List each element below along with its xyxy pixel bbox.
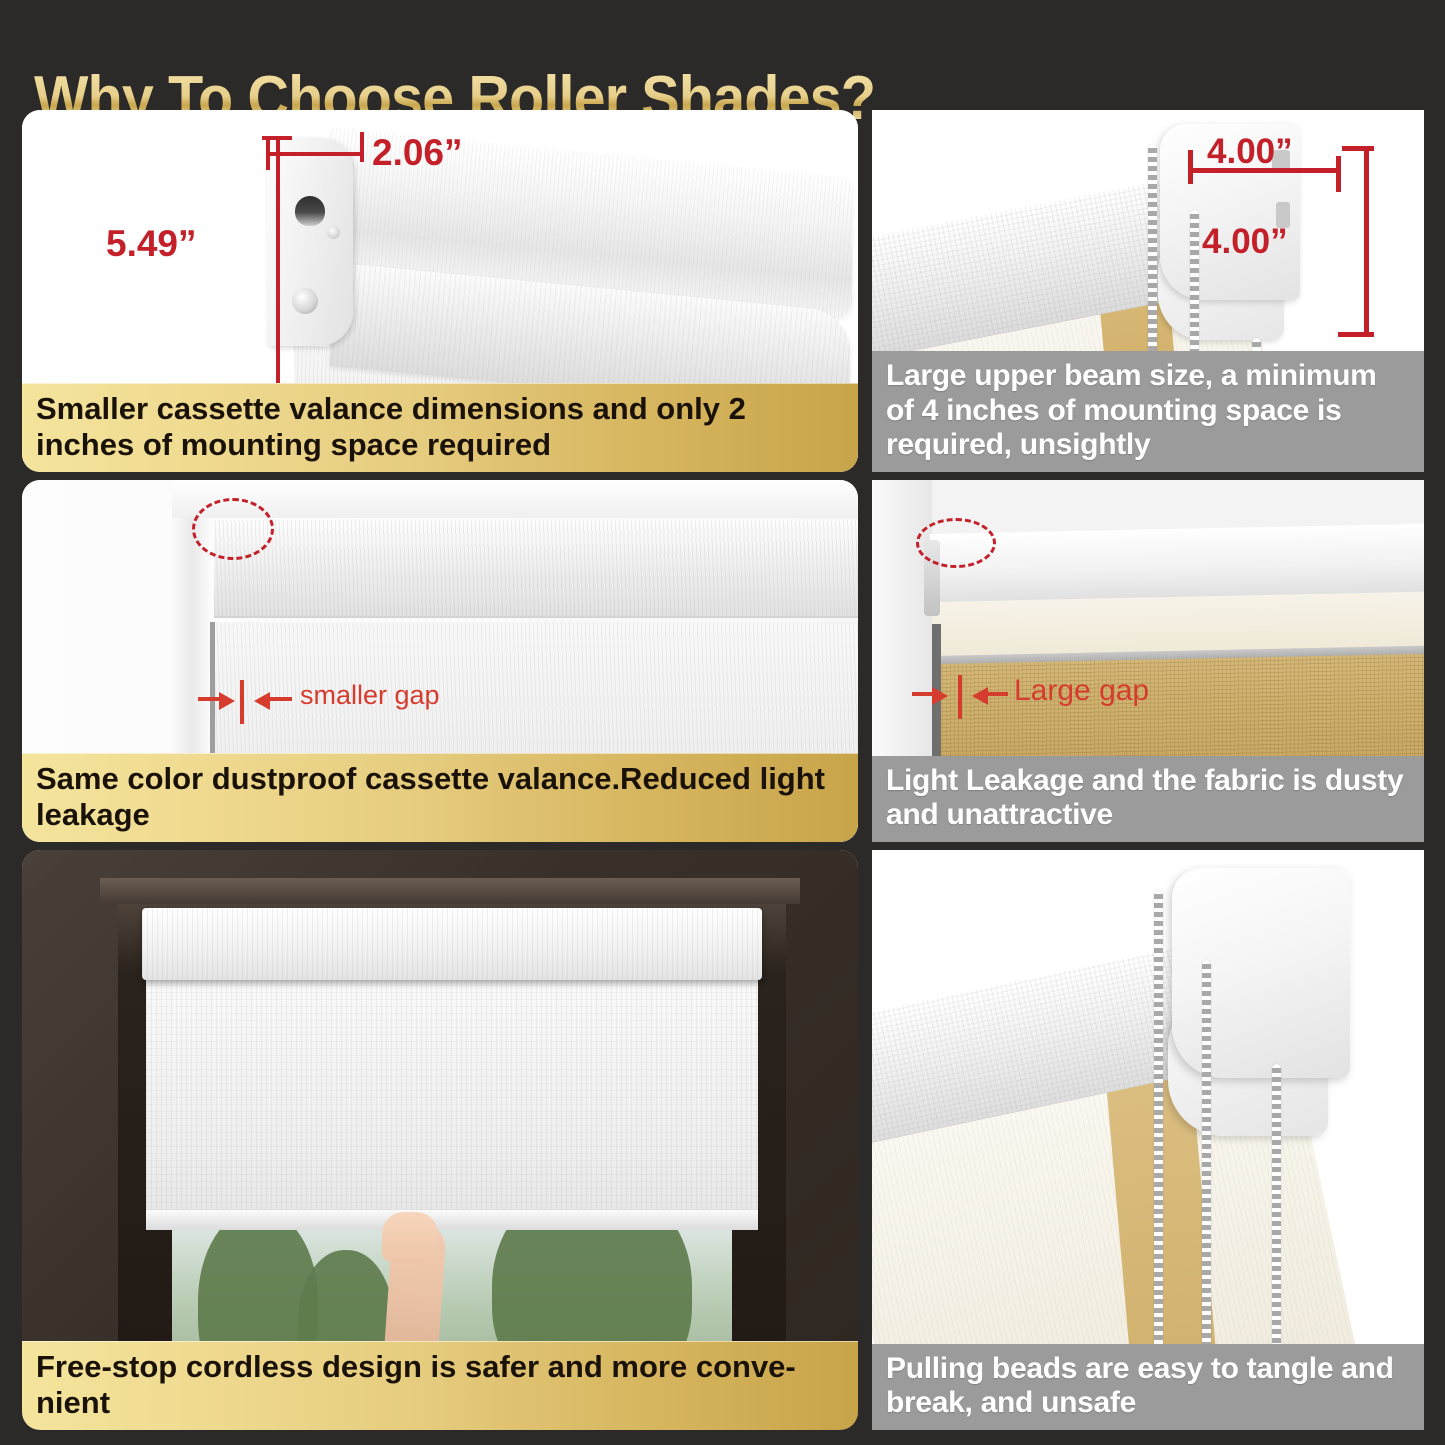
panel-cassette-valance: 2.06” 5.49” Smaller cassette valance dim…	[22, 110, 858, 472]
panel-caption: Smaller cassette valance dimensions and …	[22, 383, 858, 472]
beam-height-tick-bottom	[1338, 332, 1374, 337]
beam-width-tick-right	[1336, 156, 1341, 192]
fingers	[382, 1212, 438, 1262]
panel-caption: Large upper beam size, a minimum of 4 in…	[872, 351, 1424, 472]
panel-caption: Light Leakage and the fabric is dusty an…	[872, 756, 1424, 842]
highlight-circle-icon	[916, 518, 996, 568]
width-dimension-line	[268, 152, 364, 156]
gap-arrow-right-stem	[986, 692, 1008, 696]
wall-side	[872, 480, 932, 780]
shade-fabric	[146, 978, 758, 1224]
width-dimension-tick-left	[266, 136, 270, 170]
window-header	[100, 878, 800, 904]
height-dimension-label: 5.49”	[106, 223, 197, 265]
endcap-screw-icon	[292, 288, 318, 314]
gap-arrow-right-stem	[268, 697, 292, 701]
panel-caption: Same color dustproof cassette valance.Re…	[22, 753, 858, 842]
gap-callout-label: Large gap	[1014, 674, 1149, 708]
beam-height-tick-top	[1342, 146, 1374, 151]
panel-pulling-beads: Pulling beads are easy to tangle and bre…	[872, 850, 1424, 1430]
window-casing	[172, 480, 858, 518]
hem-bar	[146, 1210, 758, 1230]
beam-height-dimension-line	[1364, 146, 1369, 336]
bracket-notch-b	[872, 876, 888, 906]
beam-width-tick-left	[1188, 150, 1193, 184]
comparison-grid: 2.06” 5.49” Smaller cassette valance dim…	[0, 110, 1445, 1445]
width-dimension-tick-right	[360, 132, 364, 162]
gap-marker-bar	[958, 675, 962, 719]
panel-large-upper-beam: 4.00” 4.00” Large upper beam size, a min…	[872, 110, 1424, 472]
bead-chain-mid	[1202, 960, 1211, 1372]
beam-width-label: 4.00”	[1207, 132, 1293, 172]
gap-arrow-left-stem	[198, 697, 222, 701]
gap-arrow-right-icon	[254, 692, 270, 710]
panel-light-leakage: Large gap Light Leakage and the fabric i…	[872, 480, 1424, 842]
gap-arrow-left-icon	[932, 687, 948, 705]
bead-chain-right	[1272, 1064, 1281, 1372]
panel-caption: Pulling beads are easy to tangle and bre…	[872, 1344, 1424, 1430]
width-dimension-label: 2.06”	[372, 132, 463, 174]
gap-callout-label: smaller gap	[300, 680, 440, 711]
bead-chain-left	[1154, 890, 1163, 1370]
cassette-valance	[142, 908, 762, 980]
roller-bracket-upper	[1172, 868, 1350, 1078]
panel-dustproof-valance: smaller gap Same color dustproof cassett…	[22, 480, 858, 842]
gap-arrow-left-icon	[219, 692, 235, 710]
panel-caption: Free-stop cordless design is safer and m…	[22, 1341, 858, 1430]
beam-height-label: 4.00”	[1202, 222, 1288, 262]
cassette-valance	[214, 520, 858, 618]
endcap-pin-icon	[327, 226, 340, 239]
height-dimension-tick-top	[262, 136, 292, 140]
highlight-circle-icon	[192, 498, 274, 560]
gap-arrow-right-icon	[972, 687, 988, 705]
panel-cordless-design: Free-stop cordless design is safer and m…	[22, 850, 858, 1430]
gap-marker-bar	[240, 680, 244, 724]
bracket-notch-a	[872, 850, 892, 876]
gap-arrow-left-stem	[912, 692, 936, 696]
